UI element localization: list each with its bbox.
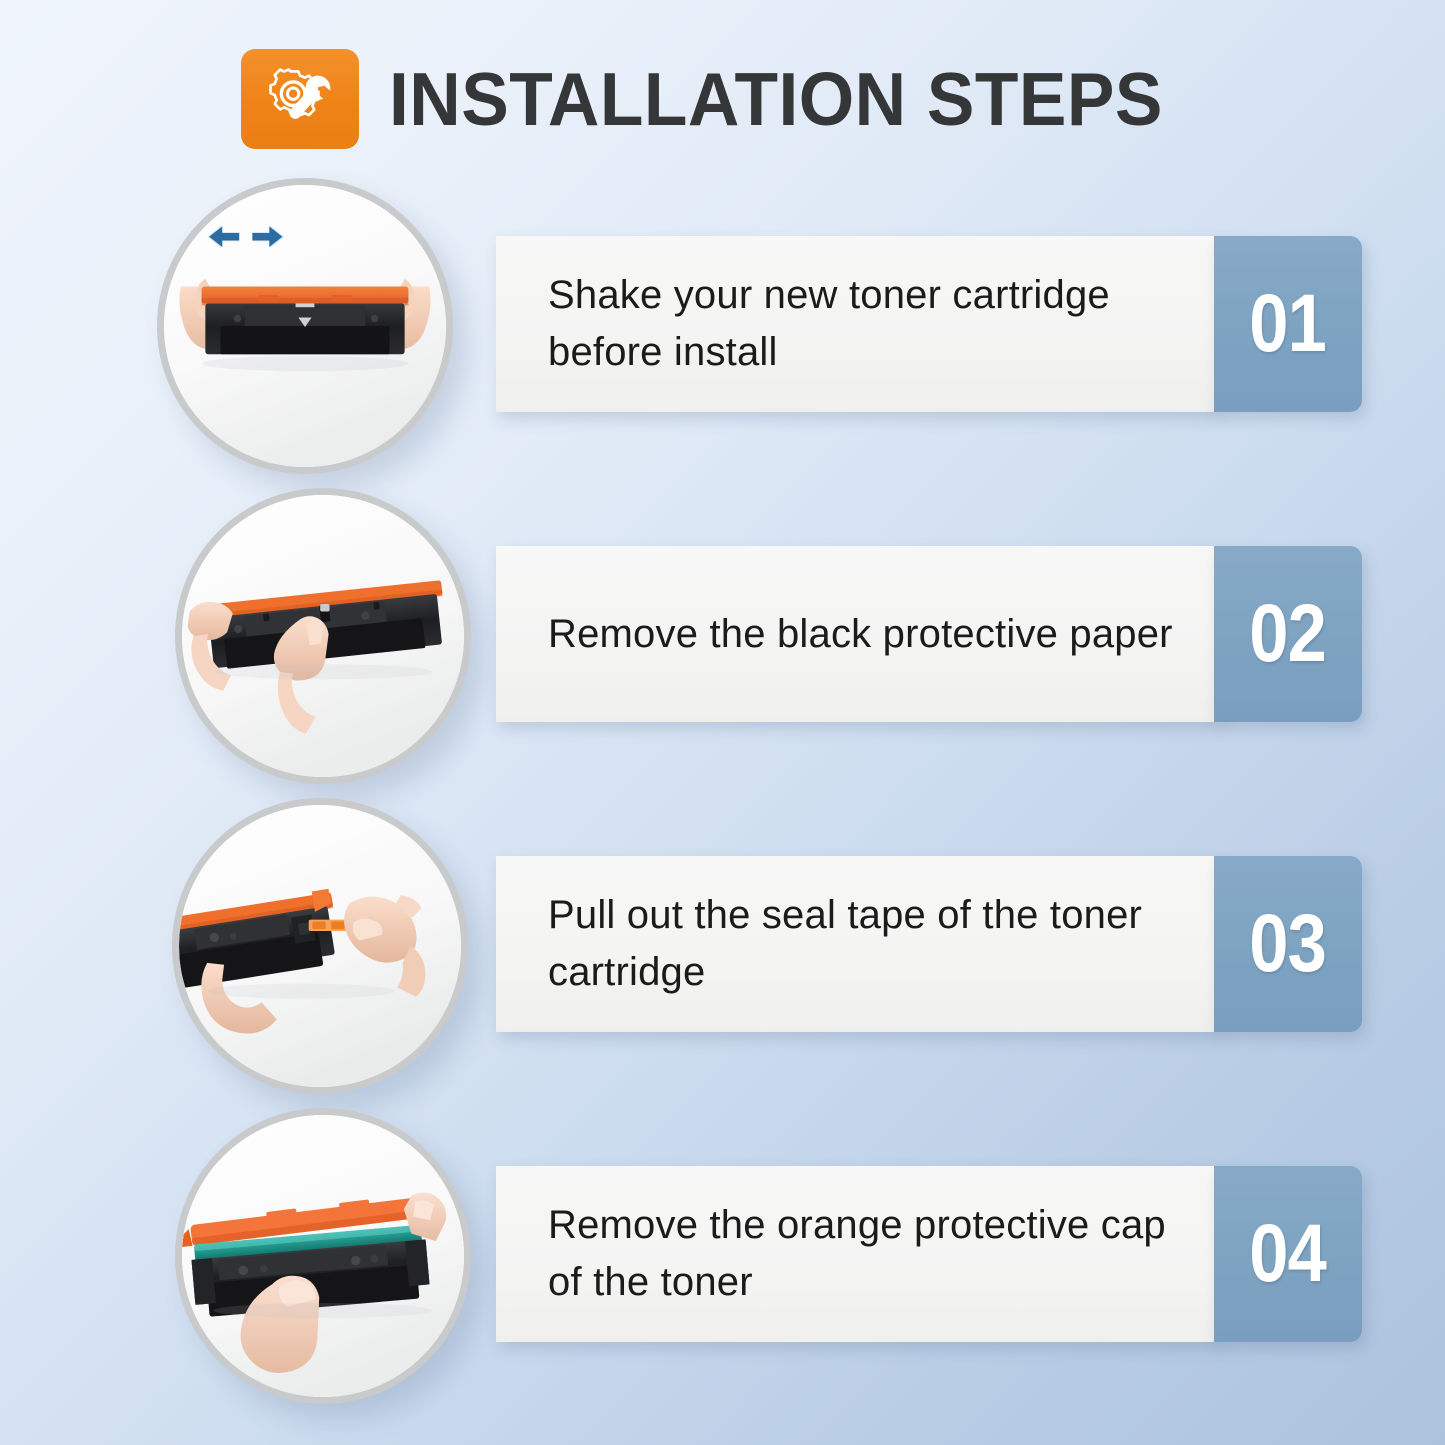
remove-black-protective-paper-photo bbox=[182, 495, 464, 777]
step-number-3: 03 bbox=[1250, 903, 1327, 985]
page-title: INSTALLATION STEPS bbox=[389, 62, 1163, 137]
remove-orange-protective-cap-photo bbox=[182, 1115, 464, 1397]
photo-circle-4 bbox=[175, 1108, 471, 1404]
photo-circle-1 bbox=[157, 178, 453, 474]
step-badge-3: 03 bbox=[1214, 856, 1362, 1032]
step-card-1: Shake your new toner cartridge before in… bbox=[496, 236, 1362, 412]
step-card-body-3: Pull out the seal tape of the toner cart… bbox=[496, 856, 1218, 1032]
black-protective-paper bbox=[319, 604, 330, 623]
photo-circle-3 bbox=[172, 798, 468, 1094]
step-1-photo bbox=[157, 178, 453, 474]
step-number-4: 04 bbox=[1250, 1213, 1327, 1295]
step-badge-1: 01 bbox=[1214, 236, 1362, 412]
step-number-1: 01 bbox=[1250, 283, 1327, 365]
step-text-4: Remove the orange protective cap of the … bbox=[548, 1197, 1194, 1311]
step-4-photo bbox=[175, 1108, 471, 1404]
seal-tape bbox=[309, 920, 350, 931]
step-card-body-4: Remove the orange protective cap of the … bbox=[496, 1166, 1218, 1342]
pull-seal-tape-photo bbox=[179, 805, 461, 1087]
step-badge-2: 02 bbox=[1214, 546, 1362, 722]
shake-toner-cartridge-photo bbox=[164, 185, 446, 467]
step-row-3: Pull out the seal tape of the toner cart… bbox=[0, 790, 1445, 1100]
step-text-3: Pull out the seal tape of the toner cart… bbox=[548, 887, 1194, 1001]
gear-wrench-icon bbox=[241, 49, 359, 149]
step-card-body-1: Shake your new toner cartridge before in… bbox=[496, 236, 1218, 412]
step-card-2: Remove the black protective paper 02 bbox=[496, 546, 1362, 722]
step-row-2: Remove the black protective paper 02 bbox=[0, 480, 1445, 790]
step-card-4: Remove the orange protective cap of the … bbox=[496, 1166, 1362, 1342]
step-row-1: Shake your new toner cartridge before in… bbox=[0, 170, 1445, 480]
step-3-photo bbox=[172, 798, 468, 1094]
step-card-3: Pull out the seal tape of the toner cart… bbox=[496, 856, 1362, 1032]
installation-steps-infographic: INSTALLATION STEPS bbox=[0, 0, 1445, 1445]
step-card-body-2: Remove the black protective paper bbox=[496, 546, 1218, 722]
step-text-1: Shake your new toner cartridge before in… bbox=[548, 267, 1194, 381]
photo-circle-2 bbox=[175, 488, 471, 784]
step-text-2: Remove the black protective paper bbox=[548, 606, 1173, 663]
page-header: INSTALLATION STEPS bbox=[0, 44, 1445, 154]
step-number-2: 02 bbox=[1250, 593, 1327, 675]
step-row-4: Remove the orange protective cap of the … bbox=[0, 1100, 1445, 1410]
step-2-photo bbox=[175, 488, 471, 784]
toner-cartridge bbox=[202, 287, 409, 355]
step-badge-4: 04 bbox=[1214, 1166, 1362, 1342]
